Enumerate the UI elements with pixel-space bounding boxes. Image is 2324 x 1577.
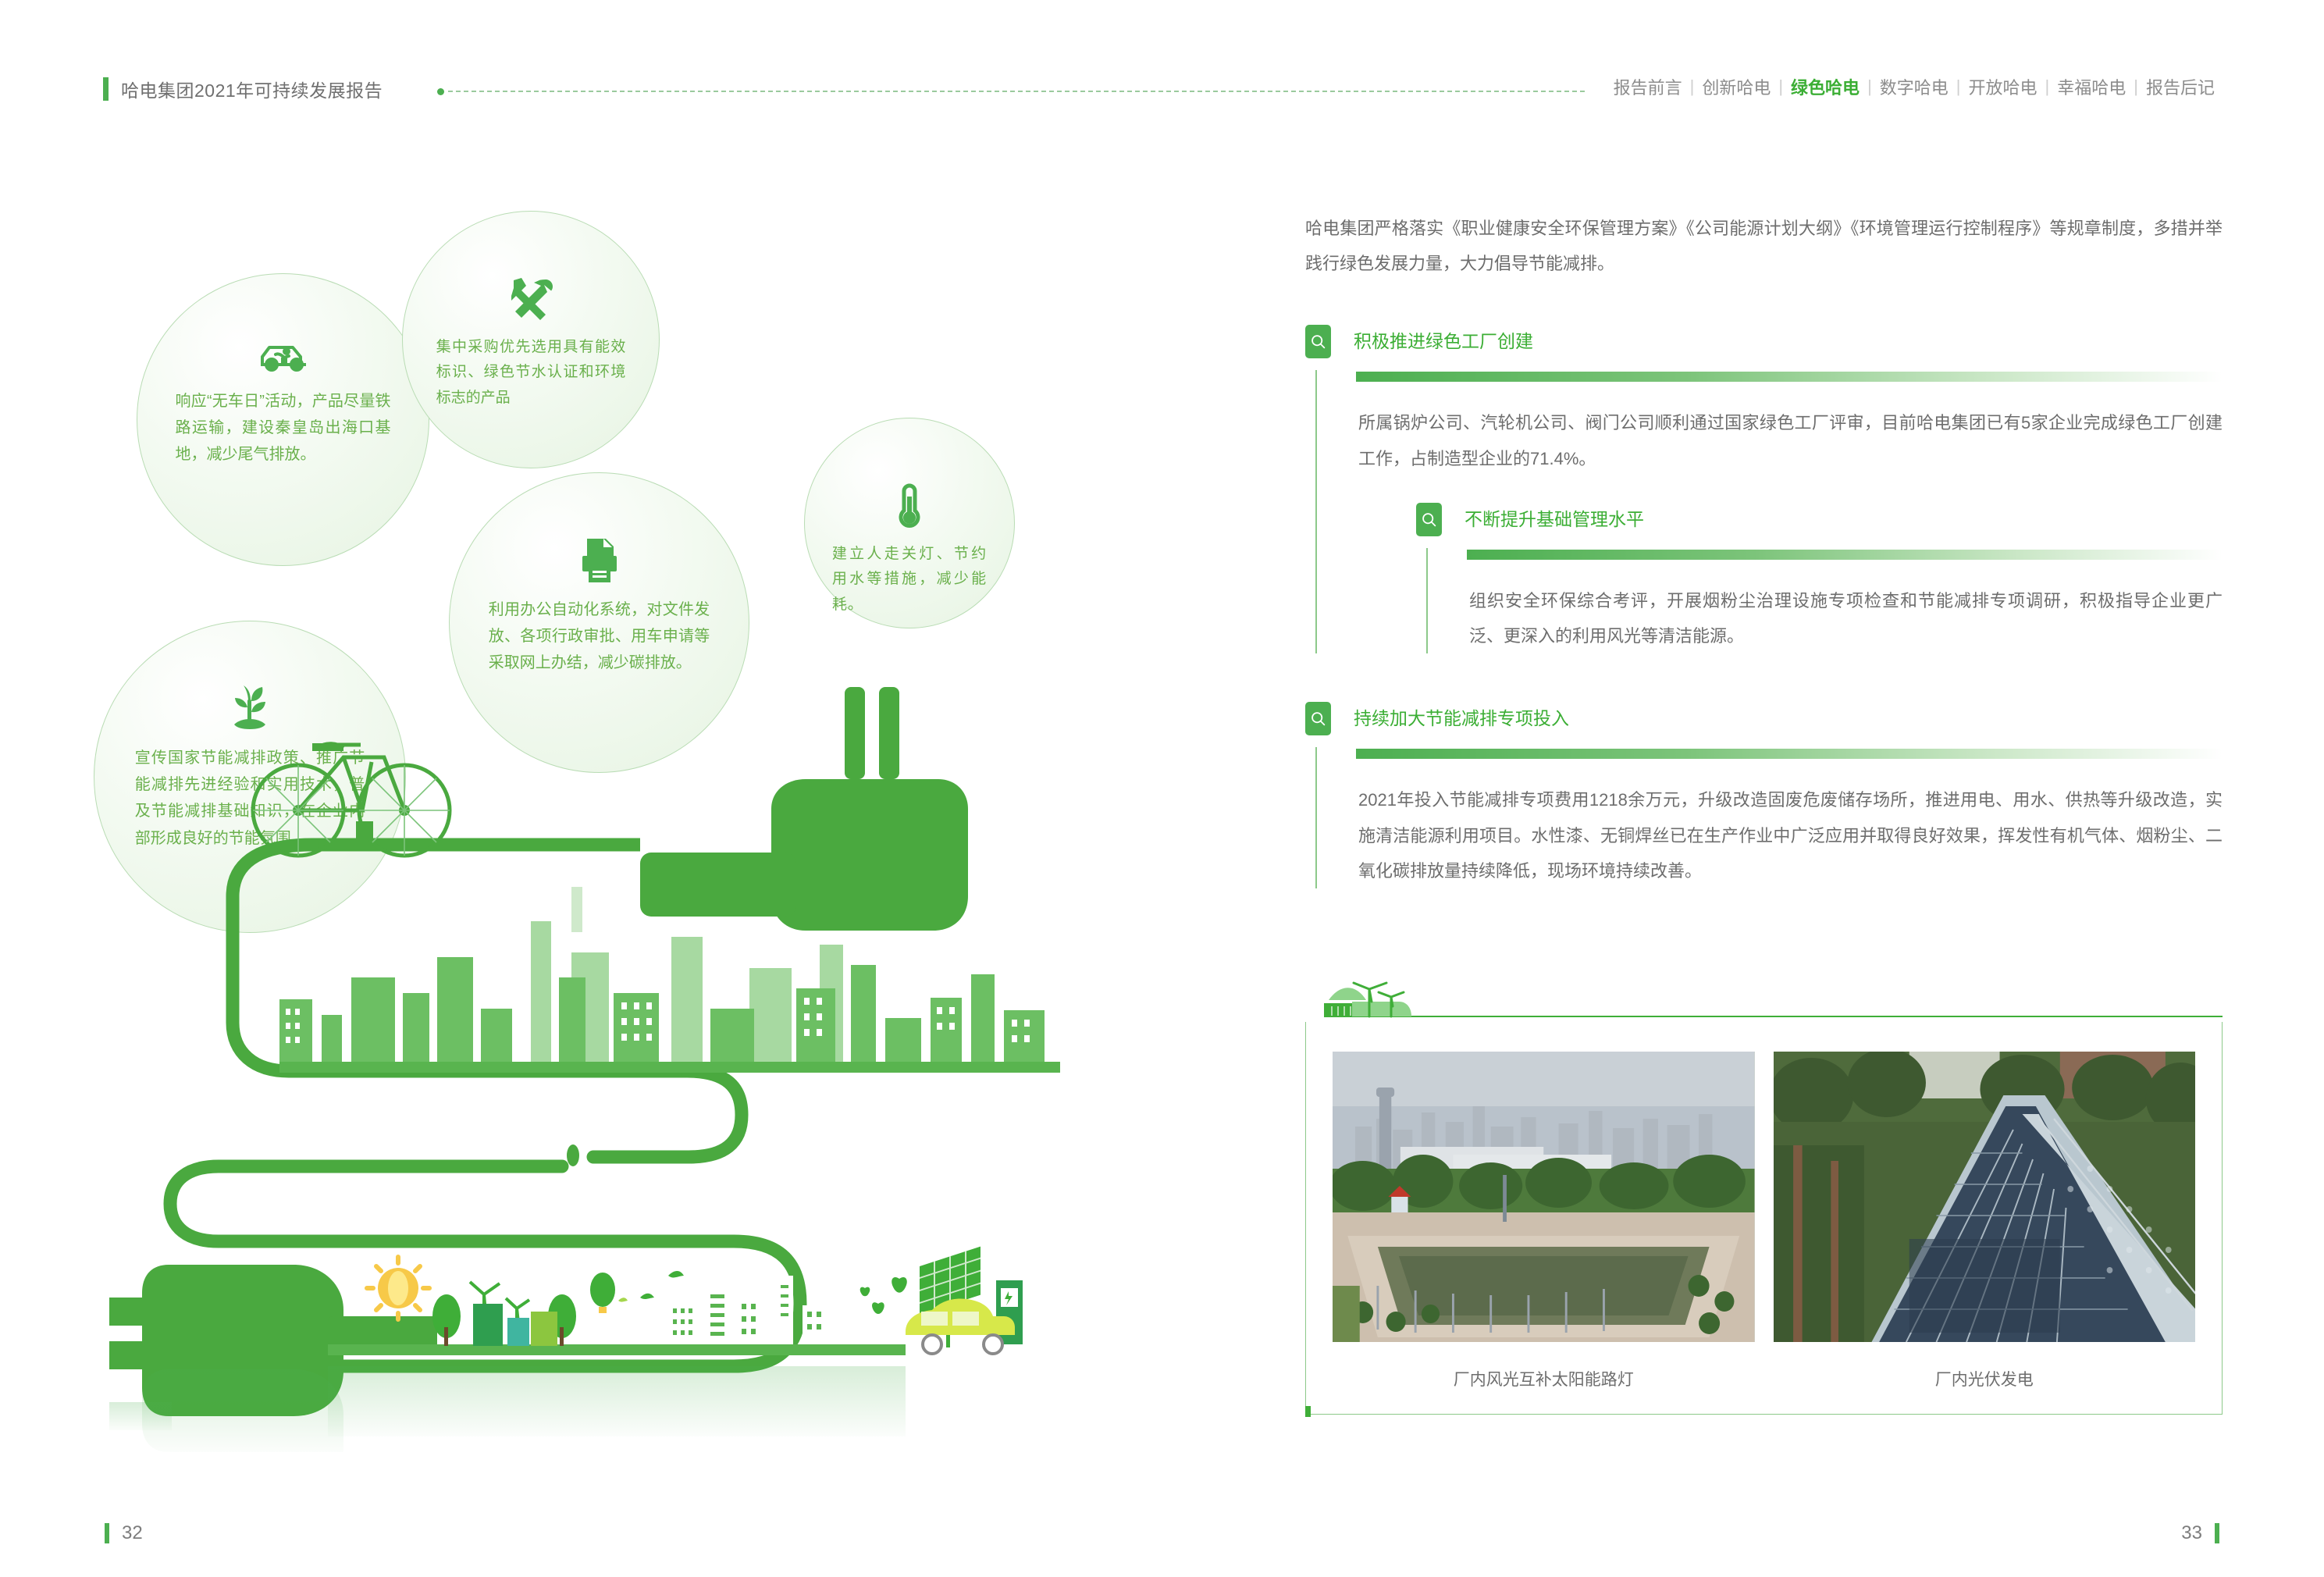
info-bubble-energy-saving: 建立人走关灯、节约用水等措施，减少能耗。 [804, 418, 1015, 628]
photo-image [1774, 1052, 2196, 1342]
photo-solar-street-lamp: 厂内风光互补太阳能路灯 [1333, 1052, 1755, 1390]
page-accent-bar [105, 1523, 109, 1543]
page-number-right-group: 33 [2181, 1522, 2219, 1544]
green-power-plug-illustration [94, 687, 1155, 1452]
nav-item-3[interactable]: 数字哈电 [1872, 74, 1956, 99]
section-rail [1426, 548, 1428, 653]
panel-corner-tick [1305, 1406, 1311, 1417]
search-icon [1305, 702, 1331, 735]
section-body: 所属锅炉公司、汽轮机公司、阀门公司顺利通过国家绿色工厂评审，目前哈电集团已有5家… [1354, 405, 2223, 475]
bubble-infographic: 响应“无车日”活动，产品尽量铁路运输，建设秦皇岛出海口基地，减少尾气排放。 集中… [94, 187, 1155, 1452]
header-dash-line [448, 91, 1585, 92]
thermometer-icon [896, 482, 923, 531]
section-body: 2021年投入节能减排专项费用1218余万元，升级改造固废危废储存场所，推进用电… [1354, 782, 2223, 888]
header-dot [437, 88, 444, 95]
photo-panel: 厂内风光互补太阳能路灯 [1305, 974, 2223, 1415]
nav-item-6[interactable]: 报告后记 [2138, 74, 2223, 99]
chapter-nav[interactable]: 报告前言| 创新哈电| 绿色哈电| 数字哈电| 开放哈电| 幸福哈电| 报告后记 [1606, 74, 2223, 99]
info-bubble-text: 响应“无车日”活动，产品尽量铁路运输，建设秦皇岛出海口基地，减少尾气排放。 [137, 388, 429, 468]
nav-item-5[interactable]: 幸福哈电 [2049, 74, 2134, 99]
section-gradient-bar [1356, 749, 2223, 759]
section-body: 组织安全环保综合考评，开展烟粉尘治理设施专项检查和节能减排专项调研，积极指导企业… [1465, 583, 2223, 653]
photo-row: 厂内风光互补太阳能路灯 [1333, 1052, 2195, 1390]
page-title: 哈电集团2021年可持续发展报告 [121, 76, 383, 102]
page-number-left-group: 32 [105, 1522, 143, 1544]
info-bubble-procurement: 集中采购优先选用具有能效标识、绿色节水认证和环境标志的产品 [402, 211, 660, 468]
car-icon [254, 338, 312, 377]
section-green-factory: 积极推进绿色工厂创建 所属锅炉公司、汽轮机公司、阀门公司顺利通过国家绿色工厂评审… [1305, 325, 2223, 653]
photo-panel-frame: 厂内风光互补太阳能路灯 [1305, 1022, 2223, 1415]
search-icon [1416, 503, 1442, 536]
printer-icon [578, 537, 621, 586]
search-icon [1305, 325, 1331, 358]
header-dashed-rule [437, 87, 1585, 95]
info-bubble-transport: 响应“无车日”活动，产品尽量铁路运输，建设秦皇岛出海口基地，减少尾气排放。 [137, 273, 429, 566]
wind-turbine-dam-icon [1305, 974, 2223, 1022]
section-energy-investment: 持续加大节能减排专项投入 2021年投入节能减排专项费用1218余万元，升级改造… [1305, 702, 2223, 888]
photo-pv-generation: 厂内光伏发电 [1774, 1052, 2196, 1390]
right-content-column: 哈电集团严格落实《职业健康安全环保管理方案》《公司能源计划大纲》《环境管理运行控… [1305, 211, 2223, 888]
nav-item-0[interactable]: 报告前言 [1606, 74, 1690, 99]
header-brand: 哈电集团2021年可持续发展报告 [103, 76, 383, 102]
intro-paragraph: 哈电集团严格落实《职业健康安全环保管理方案》《公司能源计划大纲》《环境管理运行控… [1305, 211, 2223, 281]
nav-item-2[interactable]: 绿色哈电 [1783, 74, 1867, 99]
section-rail [1315, 370, 1317, 653]
page-accent-bar [2215, 1523, 2219, 1543]
photo-caption: 厂内光伏发电 [1774, 1367, 2196, 1390]
nav-item-1[interactable]: 创新哈电 [1694, 74, 1778, 99]
page-number-left: 32 [122, 1522, 143, 1544]
info-bubble-text: 建立人走关灯、节约用水等措施，减少能耗。 [805, 542, 1014, 618]
section-basic-management: 不断提升基础管理水平 组织安全环保综合考评，开展烟粉尘治理设施专项检查和节能减排… [1416, 503, 2223, 653]
section-rail [1315, 747, 1317, 888]
info-bubble-text: 利用办公自动化系统，对文件发放、各项行政审批、用车申请等采取网上办结，减少碳排放… [450, 596, 749, 677]
photo-caption: 厂内风光互补太阳能路灯 [1333, 1367, 1755, 1390]
section-heading: 不断提升基础管理水平 [1465, 503, 2223, 529]
photo-image [1333, 1052, 1755, 1342]
section-gradient-bar [1356, 372, 2223, 382]
header-accent-bar [103, 77, 109, 101]
info-bubble-text: 集中采购优先选用具有能效标识、绿色节水认证和环境标志的产品 [403, 335, 659, 411]
section-heading: 积极推进绿色工厂创建 [1354, 325, 2223, 351]
nav-item-4[interactable]: 开放哈电 [1961, 74, 2045, 99]
section-gradient-bar [1467, 550, 2223, 560]
page-number-right: 33 [2181, 1522, 2202, 1544]
report-page: 哈电集团2021年可持续发展报告 报告前言| 创新哈电| 绿色哈电| 数字哈电|… [0, 0, 2324, 1577]
tools-icon [507, 276, 555, 324]
section-heading: 持续加大节能减排专项投入 [1354, 702, 2223, 728]
